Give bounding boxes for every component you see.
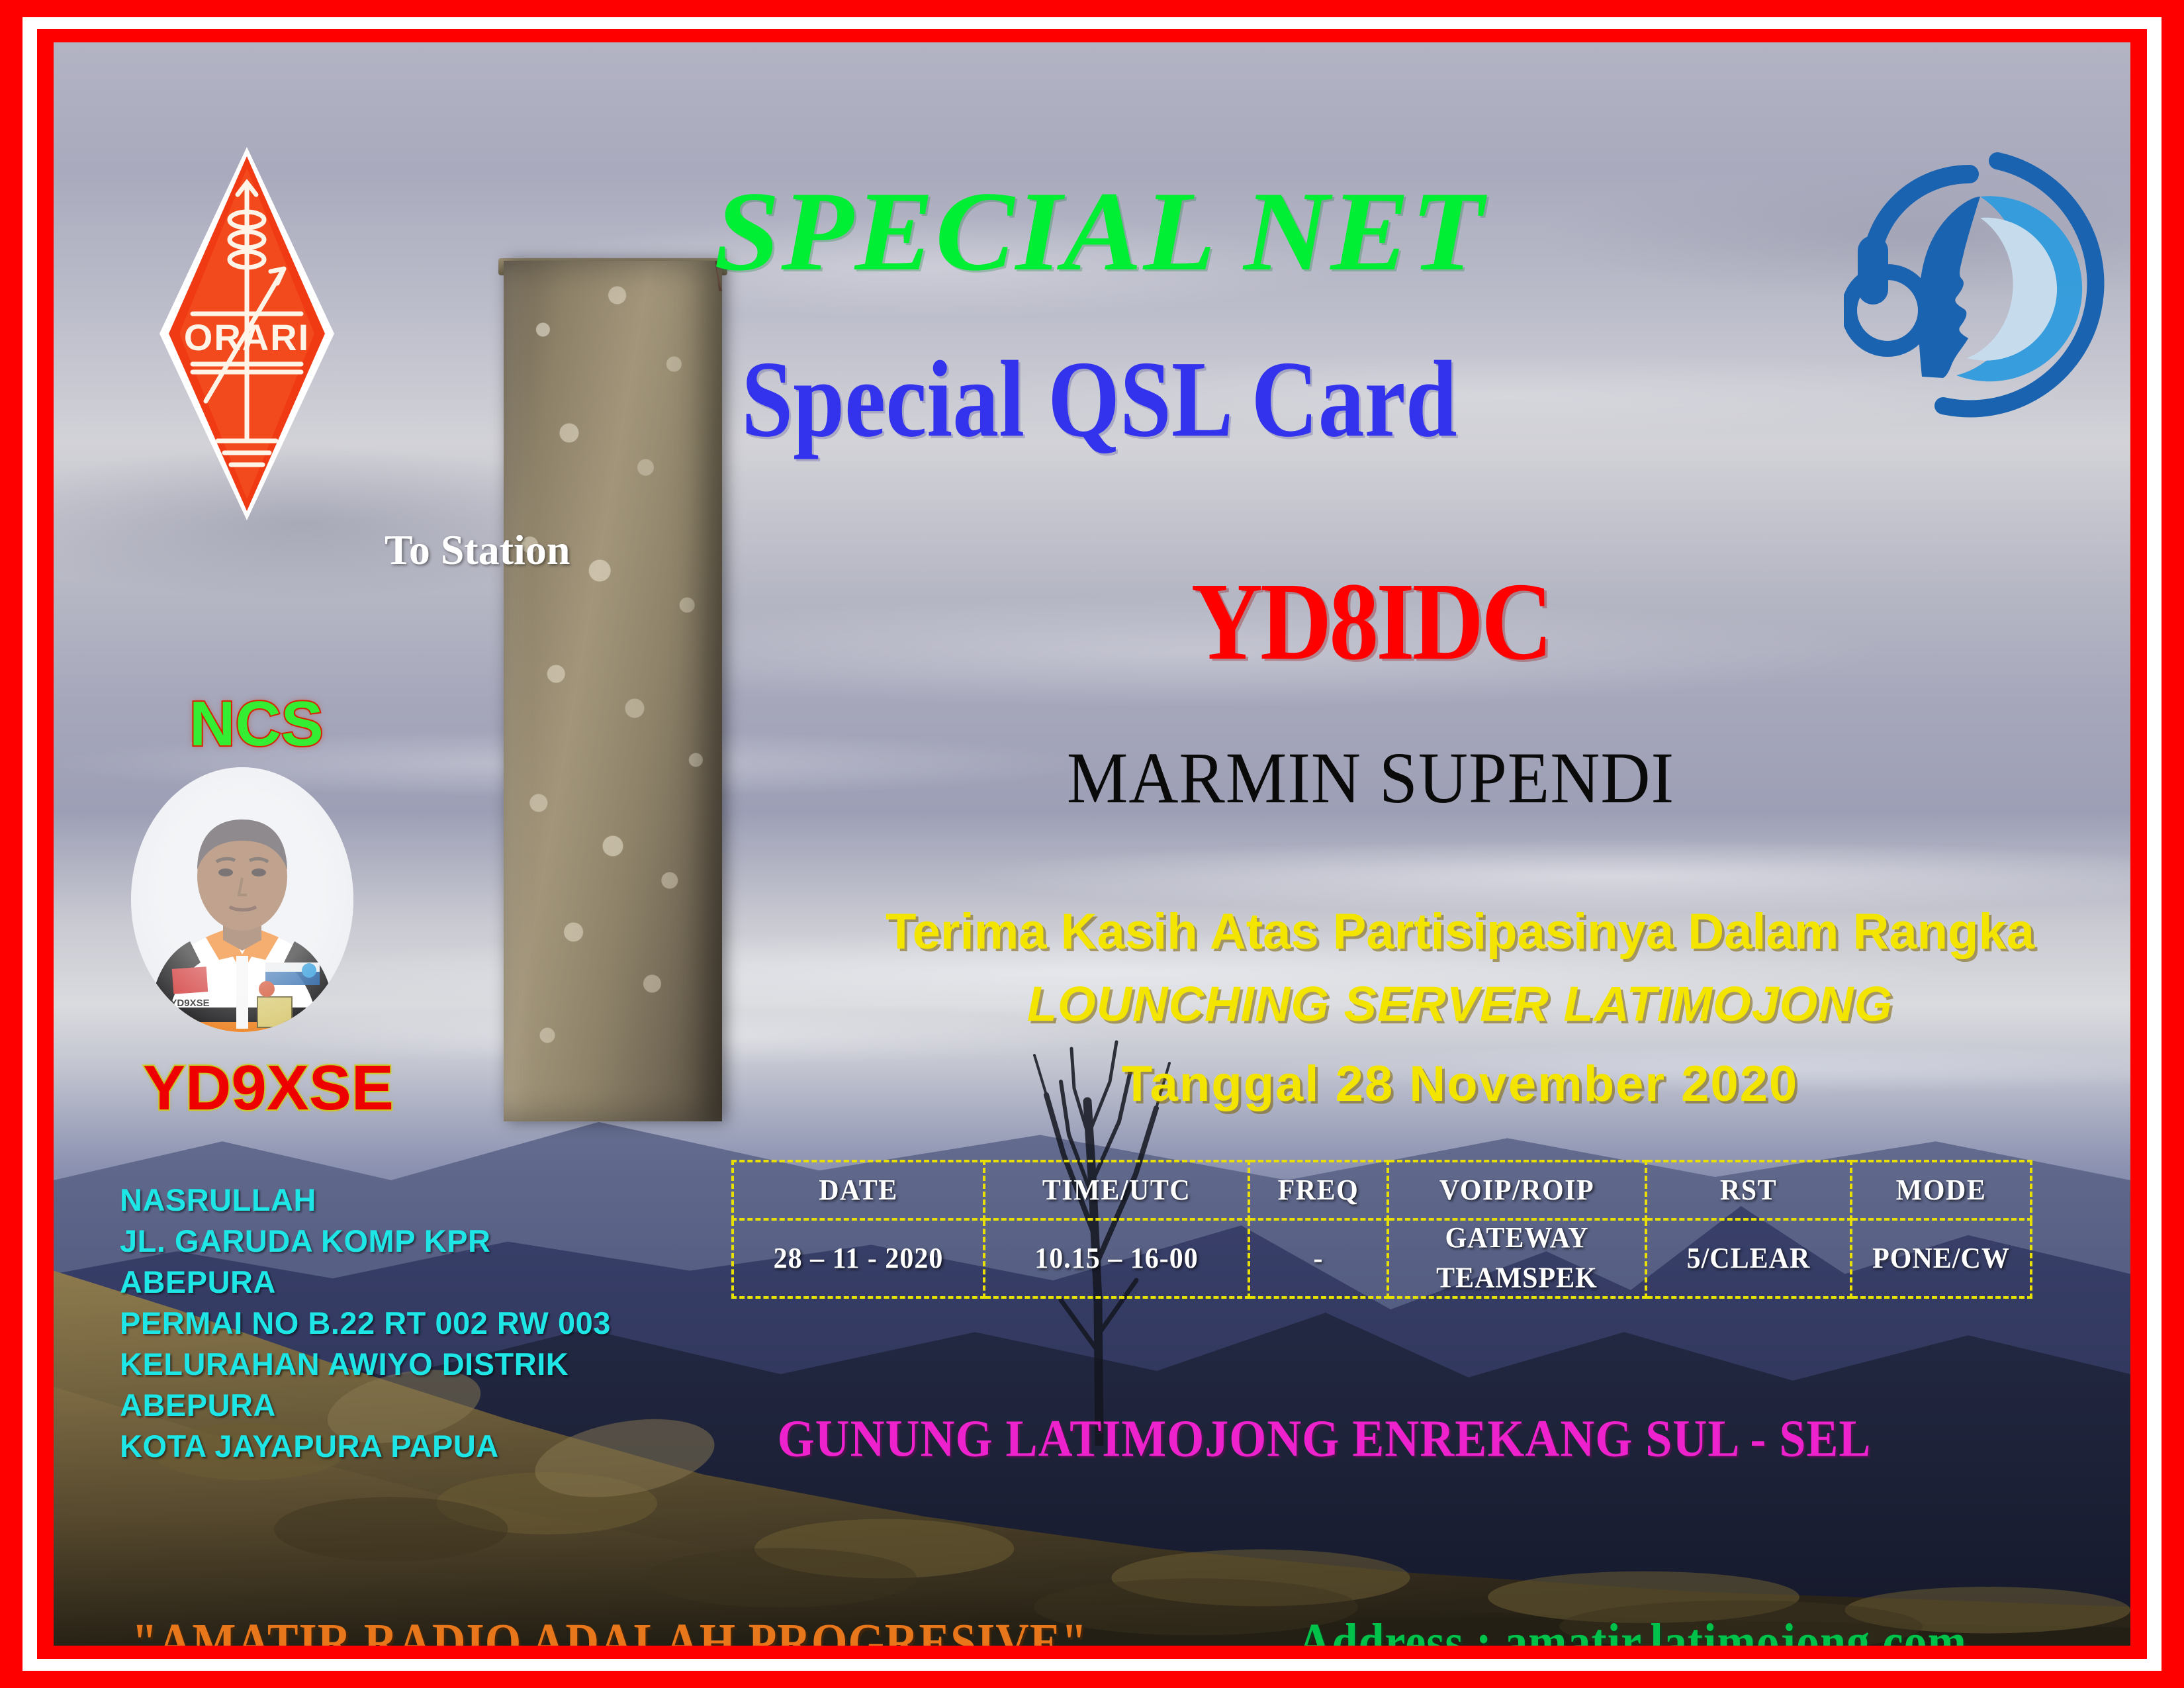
cell-voip-roip: GATEWAY TEAMSPEK <box>1388 1217 1646 1299</box>
address-line: KELURAHAN AWIYO DISTRIK <box>120 1344 611 1385</box>
footer-address: Address : amatir.latimojong.com <box>1298 1613 1967 1646</box>
card-photo-area: ORARI <box>54 42 2130 1646</box>
header-voip-roip: VOIP/ROIP <box>1388 1159 1646 1221</box>
headset-profile-logo <box>1844 145 2128 430</box>
address-line: ABEPURA <box>120 1385 611 1426</box>
header-freq: FREQ <box>1249 1159 1388 1221</box>
cell-time-utc: 10.15 – 16-00 <box>984 1217 1249 1299</box>
ncs-label: NCS <box>189 688 324 761</box>
address-line: JL. GARUDA KOMP KPR <box>120 1221 611 1262</box>
header-time-utc: TIME/UTC <box>984 1159 1249 1221</box>
event-date-line: Tanggal 28 November 2020 <box>801 1055 2118 1113</box>
orari-logo: ORARI <box>154 142 340 526</box>
ncs-callsign: YD9XSE <box>143 1052 394 1125</box>
cell-mode: PONE/CW <box>1851 1217 2031 1299</box>
cell-voip-line2: TEAMSPEK <box>1389 1258 1645 1298</box>
location-line: GUNUNG LATIMOJONG ENREKANG SUL - SEL <box>689 1409 1960 1469</box>
orari-logo-text: ORARI <box>184 316 310 358</box>
address-line: NASRULLAH <box>120 1180 611 1221</box>
cell-date: 28 – 11 - 2020 <box>733 1217 984 1299</box>
ncs-operator-photo: YD9XSE <box>126 764 358 1042</box>
page-subtitle: Special QSL Card <box>451 345 1748 454</box>
table-row: 28 – 11 - 2020 10.15 – 16-00 - GATEWAY T… <box>733 1219 2031 1297</box>
cell-freq: - <box>1249 1217 1388 1299</box>
qso-details-table: DATE TIME/UTC FREQ VOIP/ROIP RST MODE 28… <box>731 1160 2032 1299</box>
cell-voip-line1: GATEWAY <box>1389 1219 1645 1258</box>
header-mode: MODE <box>1851 1159 2031 1221</box>
dx-operator-name: MARMIN SUPENDI <box>934 742 1807 815</box>
qsl-card-frame: ORARI <box>0 0 2184 1688</box>
footer-motto: "AMATIR RADIO ADALAH PROGRESIVE" <box>132 1613 1087 1646</box>
header-rst: RST <box>1646 1159 1851 1221</box>
cell-rst: 5/CLEAR <box>1646 1217 1851 1299</box>
event-thanks-line: Terima Kasih Atas Partisipasinya Dalam R… <box>801 903 2118 961</box>
event-occasion-line: LOUNCHING SERVER LATIMOJONG <box>801 976 2118 1032</box>
dx-callsign: YD8IDC <box>980 566 1761 677</box>
frame-white-band: ORARI <box>23 17 2161 1671</box>
header-date: DATE <box>733 1159 984 1221</box>
page-title: SPECIAL NET <box>425 175 1774 289</box>
to-station-label: To Station <box>385 526 570 575</box>
address-line: PERMAI NO B.22 RT 002 RW 003 <box>120 1303 611 1344</box>
frame-inner-red-band: ORARI <box>37 29 2147 1659</box>
address-line: KOTA JAYAPURA PAPUA <box>120 1426 611 1467</box>
sender-address-block: NASRULLAH JL. GARUDA KOMP KPR ABEPURA PE… <box>120 1180 611 1467</box>
address-line: ABEPURA <box>120 1262 611 1303</box>
table-header-row: DATE TIME/UTC FREQ VOIP/ROIP RST MODE <box>733 1161 2031 1219</box>
